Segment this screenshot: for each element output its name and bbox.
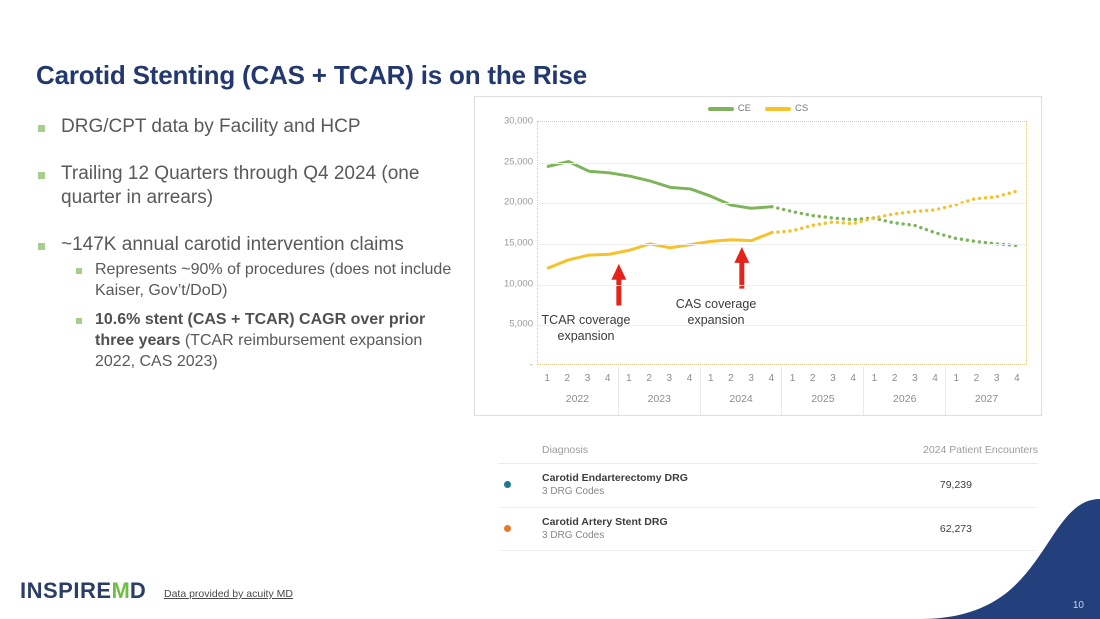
x-axis-year-group: 12342025 xyxy=(781,367,863,415)
x-axis-quarter-label: 2 xyxy=(885,373,905,384)
bullet-text: ~147K annual carotid intervention claims xyxy=(61,233,404,258)
diagnosis-name: Carotid Artery Stent DRG xyxy=(542,515,668,529)
x-axis-year-group: 12342027 xyxy=(945,367,1027,415)
bullet-square-icon xyxy=(76,318,82,324)
x-axis-quarter-label: 1 xyxy=(619,373,639,384)
x-axis: 1234202212342023123420241234202512342026… xyxy=(537,367,1027,415)
diagnosis-name: Carotid Endarterectomy DRG xyxy=(542,471,688,485)
column-header-encounters: 2024 Patient Encounters xyxy=(923,444,1038,456)
table-header: Diagnosis 2024 Patient Encounters xyxy=(498,444,1038,464)
y-axis-tick-label: 25,000 xyxy=(504,156,533,167)
series-dot-icon xyxy=(504,525,511,532)
chart-card: CE CS 30,00025,00020,00015,00010,0005,00… xyxy=(474,96,1042,416)
x-axis-quarter-label: 1 xyxy=(701,373,721,384)
x-axis-year-label: 2023 xyxy=(619,393,700,405)
annotation-tcar: TCAR coverage expansion xyxy=(521,313,651,344)
y-axis-tick-label: 20,000 xyxy=(504,197,533,208)
sub-bullet-item: 10.6% stent (CAS + TCAR) CAGR over prior… xyxy=(76,310,458,372)
x-axis-quarter-label: 1 xyxy=(946,373,966,384)
x-axis-quarter-label: 4 xyxy=(925,373,945,384)
x-axis-year-label: 2022 xyxy=(537,393,618,405)
y-axis-tick-label: 15,000 xyxy=(504,238,533,249)
x-axis-quarter-label: 3 xyxy=(823,373,843,384)
bullet-text: DRG/CPT data by Facility and HCP xyxy=(61,115,361,140)
x-axis-quarter-label: 4 xyxy=(598,373,618,384)
x-axis-quarter-label: 2 xyxy=(639,373,659,384)
bullet-item: DRG/CPT data by Facility and HCP xyxy=(38,115,458,140)
logo-text-d: D xyxy=(130,578,146,604)
x-axis-quarter-label: 1 xyxy=(537,373,557,384)
bullet-item: Trailing 12 Quarters through Q4 2024 (on… xyxy=(38,162,458,211)
legend-label-cs: CS xyxy=(795,103,808,114)
bullet-item: ~147K annual carotid intervention claims xyxy=(38,233,458,258)
logo-text-m: M xyxy=(112,578,130,604)
plot-area-wrapper: 30,00025,00020,00015,00010,0005,000- TCA… xyxy=(475,121,1041,415)
legend-item-ce[interactable]: CE xyxy=(708,103,751,114)
x-axis-quarter-label: 3 xyxy=(987,373,1007,384)
bullet-text: Trailing 12 Quarters through Q4 2024 (on… xyxy=(61,162,458,211)
logo-text-inspire: INSPIRE xyxy=(20,578,112,604)
table-row-labels: Carotid Endarterectomy DRG 3 DRG Codes xyxy=(542,471,688,499)
legend-swatch-cs xyxy=(765,107,791,111)
x-axis-quarter-label: 4 xyxy=(679,373,699,384)
legend-item-cs[interactable]: CS xyxy=(765,103,808,114)
x-axis-quarter-label: 4 xyxy=(1007,373,1027,384)
gridline xyxy=(538,285,1026,286)
annotation-cas: CAS coverage expansion xyxy=(651,297,781,328)
legend-swatch-ce xyxy=(708,107,734,111)
diagnosis-subtext: 3 DRG Codes xyxy=(542,485,688,499)
sub-bullet-text: Represents ~90% of procedures (does not … xyxy=(95,260,458,302)
legend-label-ce: CE xyxy=(738,103,751,114)
x-axis-quarter-label: 2 xyxy=(557,373,577,384)
x-axis-quarter-label: 2 xyxy=(721,373,741,384)
column-header-diagnosis: Diagnosis xyxy=(542,444,588,456)
x-axis-quarter-label: 3 xyxy=(577,373,597,384)
inspiremd-logo: INSPIRE M D xyxy=(20,578,146,604)
x-axis-quarter-label: 3 xyxy=(659,373,679,384)
bullet-square-icon xyxy=(38,125,45,132)
bullet-square-icon xyxy=(76,268,82,274)
x-axis-year-group: 12342026 xyxy=(863,367,945,415)
sub-bullet-text: 10.6% stent (CAS + TCAR) CAGR over prior… xyxy=(95,310,458,372)
data-credit-link[interactable]: Data provided by acuity MD xyxy=(164,588,293,600)
x-axis-year-label: 2024 xyxy=(701,393,782,405)
bullet-square-icon xyxy=(38,172,45,179)
diagnosis-subtext: 3 DRG Codes xyxy=(542,529,668,543)
gridline xyxy=(538,244,1026,245)
bullet-square-icon xyxy=(38,243,45,250)
page-title: Carotid Stenting (CAS + TCAR) is on the … xyxy=(36,60,587,91)
gridline xyxy=(538,203,1026,204)
x-axis-quarter-label: 4 xyxy=(843,373,863,384)
y-axis-tick-label: 10,000 xyxy=(504,278,533,289)
x-axis-year-group: 12342022 xyxy=(537,367,618,415)
chart-legend: CE CS xyxy=(475,103,1041,114)
page-number: 10 xyxy=(1073,600,1084,611)
sub-bullet-item: Represents ~90% of procedures (does not … xyxy=(76,260,458,302)
x-axis-year-label: 2025 xyxy=(782,393,863,405)
x-axis-year-label: 2026 xyxy=(864,393,945,405)
table-row-labels: Carotid Artery Stent DRG 3 DRG Codes xyxy=(542,515,668,543)
x-axis-year-group: 12342023 xyxy=(618,367,700,415)
swoosh-shape xyxy=(910,499,1100,619)
series-dot-icon xyxy=(504,481,511,488)
x-axis-year-group: 12342024 xyxy=(700,367,782,415)
corner-swoosh-decoration xyxy=(910,499,1100,619)
slide: Carotid Stenting (CAS + TCAR) is on the … xyxy=(0,0,1100,619)
x-axis-quarter-label: 4 xyxy=(761,373,781,384)
sub-bullet-list: Represents ~90% of procedures (does not … xyxy=(76,260,458,373)
x-axis-year-label: 2027 xyxy=(946,393,1027,405)
gridline xyxy=(538,163,1026,164)
x-axis-quarter-label: 2 xyxy=(966,373,986,384)
x-axis-quarter-label: 1 xyxy=(864,373,884,384)
x-axis-quarter-label: 3 xyxy=(905,373,925,384)
x-axis-quarter-label: 1 xyxy=(782,373,802,384)
x-axis-quarter-label: 2 xyxy=(803,373,823,384)
encounter-value: 79,239 xyxy=(940,479,972,491)
x-axis-quarter-label: 3 xyxy=(741,373,761,384)
bullet-list: DRG/CPT data by Facility and HCP Trailin… xyxy=(38,115,458,382)
y-axis-tick-label: 30,000 xyxy=(504,116,533,127)
y-axis-tick-label: - xyxy=(530,360,533,371)
